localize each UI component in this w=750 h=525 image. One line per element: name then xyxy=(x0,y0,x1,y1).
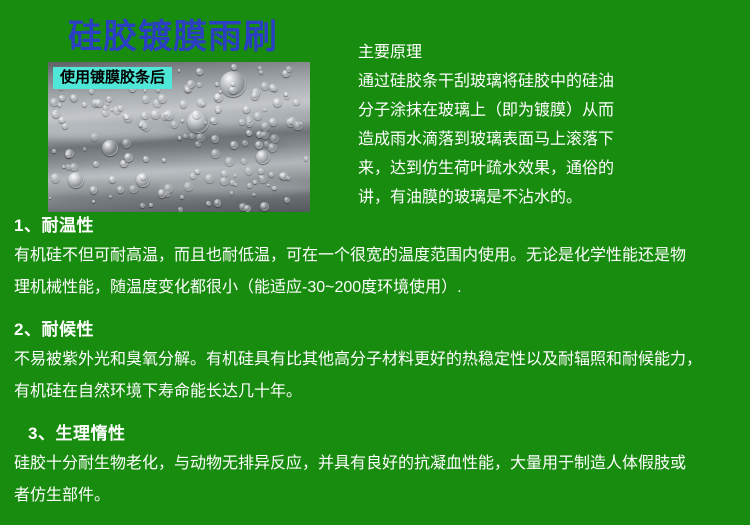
feature-body: 有机硅不但可耐高温，而且也耐低温，可在一个很宽的温度范围内使用。无论是化学性能还… xyxy=(14,240,740,304)
water-droplet xyxy=(158,94,167,103)
water-droplet xyxy=(242,140,248,146)
water-droplet xyxy=(269,118,277,126)
feature-sections: 1、耐温性 有机硅不但可耐高温，而且也耐低温，可在一个很宽的温度范围内使用。无论… xyxy=(14,212,740,524)
water-droplet xyxy=(109,176,116,183)
water-droplet xyxy=(181,119,184,122)
water-droplet xyxy=(122,139,131,148)
water-droplet xyxy=(260,202,269,211)
water-droplet xyxy=(195,169,199,173)
water-droplet xyxy=(62,165,65,168)
principle-line: 造成雨水滴落到玻璃表面马上滚落下 xyxy=(358,125,738,154)
water-droplet xyxy=(261,82,269,90)
feature-line: 有机硅在自然环境下寿命能长达几十年。 xyxy=(14,376,740,408)
water-droplet xyxy=(256,150,270,164)
water-droplet xyxy=(261,122,270,131)
water-droplet xyxy=(264,141,270,147)
water-droplet xyxy=(51,173,60,182)
feature-line: 者仿生部件。 xyxy=(14,480,740,512)
water-droplet xyxy=(129,185,138,194)
water-droplet xyxy=(247,183,252,188)
feature-body: 不易被紫外光和臭氧分解。有机硅具有比其他高分子材料更好的热稳定性以及耐辐照和耐候… xyxy=(14,344,740,408)
principle-heading: 主要原理 xyxy=(358,38,738,67)
feature-section: 2、耐候性 不易被紫外光和臭氧分解。有机硅具有比其他高分子材料更好的热稳定性以及… xyxy=(14,316,740,408)
water-droplet xyxy=(219,90,222,93)
water-droplet xyxy=(117,186,123,192)
principle-line: 来，达到仿生荷叶疏水效果，通俗的 xyxy=(358,154,738,183)
water-droplet xyxy=(71,95,77,101)
water-droplet xyxy=(140,174,146,180)
water-droplet xyxy=(272,186,276,190)
water-droplet xyxy=(109,195,112,198)
water-droplet xyxy=(196,133,205,142)
water-droplet xyxy=(180,195,184,199)
water-droplet xyxy=(162,158,166,162)
water-droplet xyxy=(284,197,290,203)
water-droplet xyxy=(246,130,252,136)
water-droplet xyxy=(293,99,300,106)
water-droplet xyxy=(82,102,87,107)
water-droplet xyxy=(171,121,177,127)
water-droplet xyxy=(106,96,112,102)
water-droplet xyxy=(141,112,148,119)
water-droplet xyxy=(184,182,192,190)
feature-heading: 2、耐候性 xyxy=(14,316,740,344)
water-droplet xyxy=(59,95,65,101)
water-droplet xyxy=(284,92,288,96)
water-droplet xyxy=(230,141,237,148)
water-droplet xyxy=(197,82,202,87)
water-droplet xyxy=(239,119,244,124)
feature-heading: 1、耐温性 xyxy=(14,212,740,240)
water-droplet xyxy=(268,143,276,151)
water-droplet xyxy=(178,136,181,139)
principle-line: 讲，有油膜的玻璃是不沾水的。 xyxy=(358,183,738,212)
water-droplet xyxy=(269,84,276,91)
water-droplet xyxy=(215,82,219,86)
hydrophobic-glass-photo: 使用镀膜胶条后 xyxy=(48,62,310,212)
water-droplet xyxy=(189,133,195,139)
photo-caption-badge: 使用镀膜胶条后 xyxy=(53,67,172,89)
water-droplet xyxy=(89,89,94,94)
water-droplet xyxy=(220,177,229,186)
feature-heading: 3、生理惰性 xyxy=(14,420,740,448)
water-droplet xyxy=(229,86,237,94)
water-droplet xyxy=(214,199,221,206)
feature-section: 1、耐温性 有机硅不但可耐高温，而且也耐低温，可在一个很宽的温度范围内使用。无论… xyxy=(14,212,740,304)
water-droplet xyxy=(185,87,191,93)
water-droplet xyxy=(304,156,308,160)
principle-block: 主要原理 通过硅胶条干刮玻璃将硅胶中的硅油 分子涂抹在玻璃上（即为镀膜）从而 造… xyxy=(358,38,738,212)
feature-line: 硅胶十分耐生物老化，与动物无排异反应，并具有良好的抗凝血性能，大量用于制造人体假… xyxy=(14,448,740,480)
water-droplet xyxy=(68,172,84,188)
feature-section: 3、生理惰性 硅胶十分耐生物老化，与动物无排异反应，并具有良好的抗凝血性能，大量… xyxy=(14,420,740,512)
principle-line: 通过硅胶条干刮玻璃将硅胶中的硅油 xyxy=(358,67,738,96)
water-droplet xyxy=(270,134,279,143)
water-droplet xyxy=(195,141,201,147)
water-droplet xyxy=(140,203,145,208)
water-droplet xyxy=(118,105,124,111)
water-droplet xyxy=(254,112,262,120)
water-droplet xyxy=(230,191,233,194)
water-droplet xyxy=(243,106,250,113)
water-droplet xyxy=(180,100,187,107)
promo-page: 硅胶镀膜雨刷 使用镀膜胶条后 主要原理 通过硅胶条干刮玻璃将硅胶中的硅油 分子涂… xyxy=(0,0,750,525)
water-droplet xyxy=(210,117,218,125)
water-droplet xyxy=(91,133,98,140)
water-droplet xyxy=(261,131,269,139)
water-droplet xyxy=(102,140,118,156)
water-droplet xyxy=(258,168,264,174)
water-droplet xyxy=(83,147,86,150)
feature-line: 不易被紫外光和臭氧分解。有机硅具有比其他高分子材料更好的热稳定性以及耐辐照和耐候… xyxy=(14,344,740,376)
feature-body: 硅胶十分耐生物老化，与动物无排异反应，并具有良好的抗凝血性能，大量用于制造人体假… xyxy=(14,448,740,512)
principle-line: 分子涂抹在玻璃上（即为镀膜）从而 xyxy=(358,96,738,125)
glass-streak xyxy=(68,166,258,182)
water-droplet xyxy=(52,149,56,153)
page-title: 硅胶镀膜雨刷 xyxy=(68,20,278,54)
water-droplet xyxy=(90,186,97,193)
water-droplet xyxy=(70,163,78,171)
water-droplet xyxy=(58,103,61,106)
water-droplet xyxy=(286,118,295,127)
feature-line: 理机械性能，随温度变化都很小（能适应-30~200度环境使用）. xyxy=(14,272,740,304)
water-droplet xyxy=(234,183,236,185)
feature-line: 有机硅不但可耐高温，而且也耐低温，可在一个很宽的温度范围内使用。无论是化学性能还… xyxy=(14,240,740,272)
water-droplet xyxy=(252,193,256,197)
water-droplet xyxy=(273,98,282,107)
